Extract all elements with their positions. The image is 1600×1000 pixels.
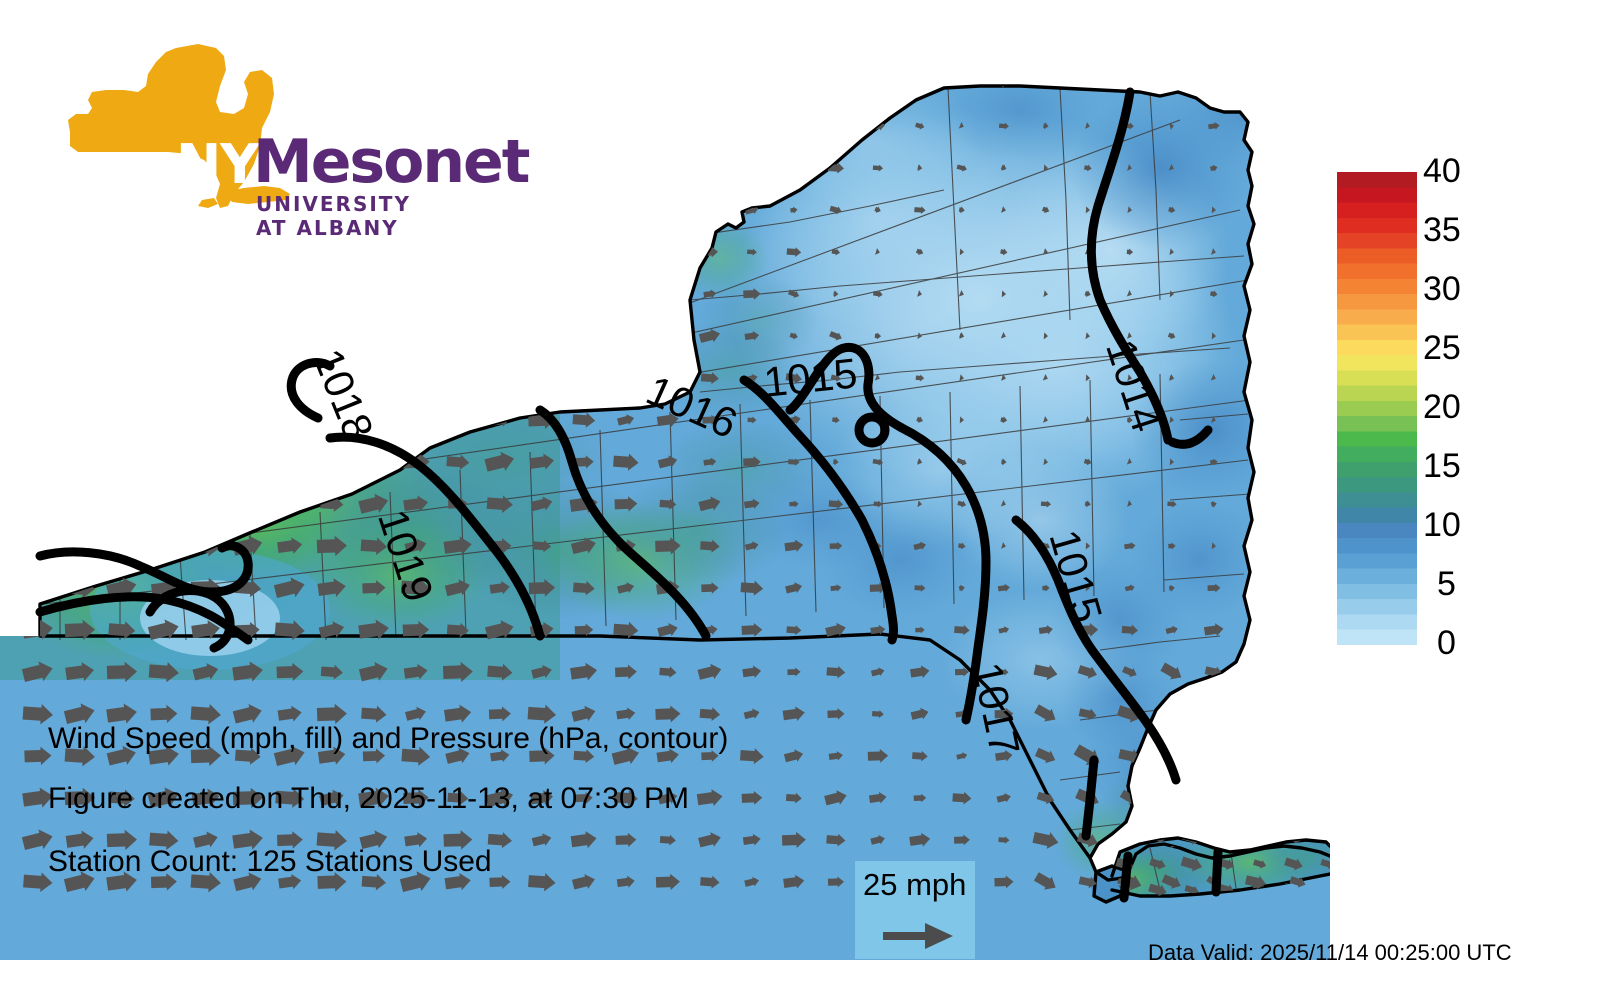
plot-title-caption: Wind Speed (mph, fill) and Pressure (hPa… (48, 722, 728, 756)
contour-label-1015: 1015 (762, 349, 860, 406)
map-svg: 1018 1019 1016 1015 1014 1015 1017 (0, 0, 1330, 960)
colorbar-tick-10: 10 (1423, 508, 1461, 542)
colorbar-tick-5: 5 (1437, 567, 1456, 601)
colorbar-tick-40: 40 (1423, 154, 1461, 188)
state-windspeed-fill (0, 0, 1330, 960)
colorbar-tick-20: 20 (1423, 390, 1461, 424)
colorbar-gradient (1337, 172, 1417, 645)
windspeed-colorbar: 40 35 30 25 20 15 10 5 0 (1337, 172, 1417, 645)
colorbar-tick-0: 0 (1437, 626, 1456, 660)
colorbar-tick-30: 30 (1423, 272, 1461, 306)
colorbar-tick-15: 15 (1423, 449, 1461, 483)
data-valid-timestamp: Data Valid: 2025/11/14 00:25:00 UTC (1148, 940, 1512, 966)
contour-label-1018: 1018 (304, 342, 383, 446)
contour-li-1 (1124, 856, 1128, 898)
station-count-caption: Station Count: 125 Stations Used (48, 845, 492, 879)
weather-map[interactable]: 1018 1019 1016 1015 1014 1015 1017 (0, 0, 1330, 960)
colorbar-tick-25: 25 (1423, 331, 1461, 365)
reference-vector-arrow-icon (883, 923, 953, 949)
reference-vector-legend: 25 mph (855, 861, 975, 959)
colorbar-tick-35: 35 (1423, 213, 1461, 247)
figure-created-caption: Figure created on Thu, 2025-11-13, at 07… (48, 782, 689, 816)
contour-li-2 (1216, 852, 1218, 892)
reference-vector-label: 25 mph (863, 867, 966, 903)
